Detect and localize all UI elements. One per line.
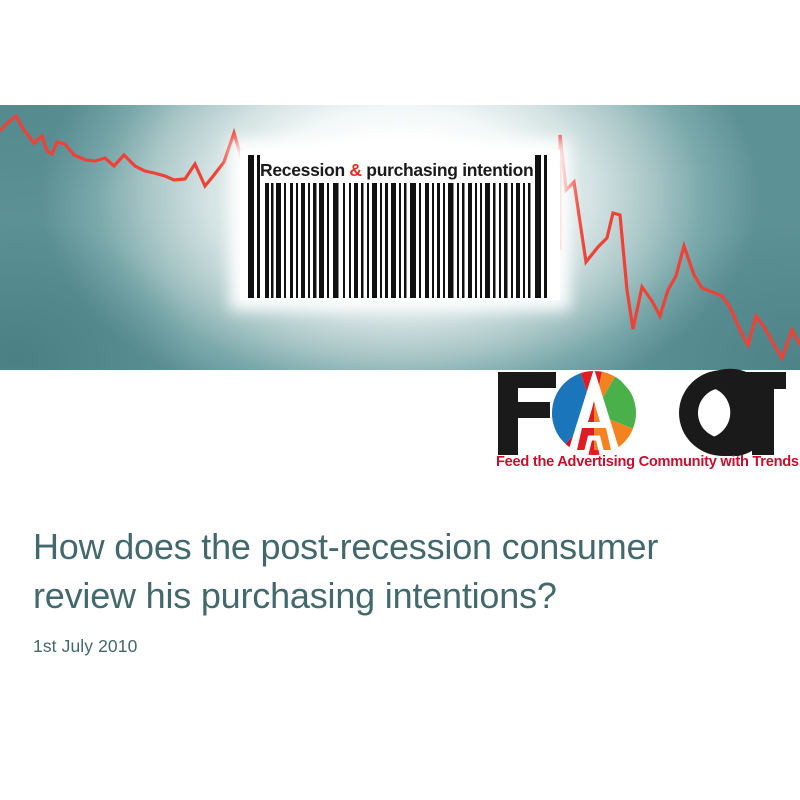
page-title-line-1: How does the post-recession consumer <box>33 526 658 567</box>
hero-banner: Recession & purchasing intention <box>0 105 800 370</box>
fact-logo: Feed the Advertising Community with Tren… <box>490 368 790 480</box>
page-title-line-2: review his purchasing intentions? <box>33 575 557 616</box>
line-series-right <box>560 135 800 358</box>
logo-letter-f <box>498 372 556 455</box>
page-title: How does the post-recession consumerrevi… <box>33 522 763 620</box>
logo-letter-a <box>552 371 636 456</box>
fact-wordmark <box>490 368 790 456</box>
barcode-graphic: Recession & purchasing intention <box>240 150 560 300</box>
fact-tagline: Feed the Advertising Community with Tren… <box>496 454 790 470</box>
page-date: 1st July 2010 <box>33 636 763 657</box>
barcode-bars <box>244 155 556 298</box>
line-series-left <box>0 116 242 250</box>
title-block: How does the post-recession consumerrevi… <box>33 522 763 657</box>
